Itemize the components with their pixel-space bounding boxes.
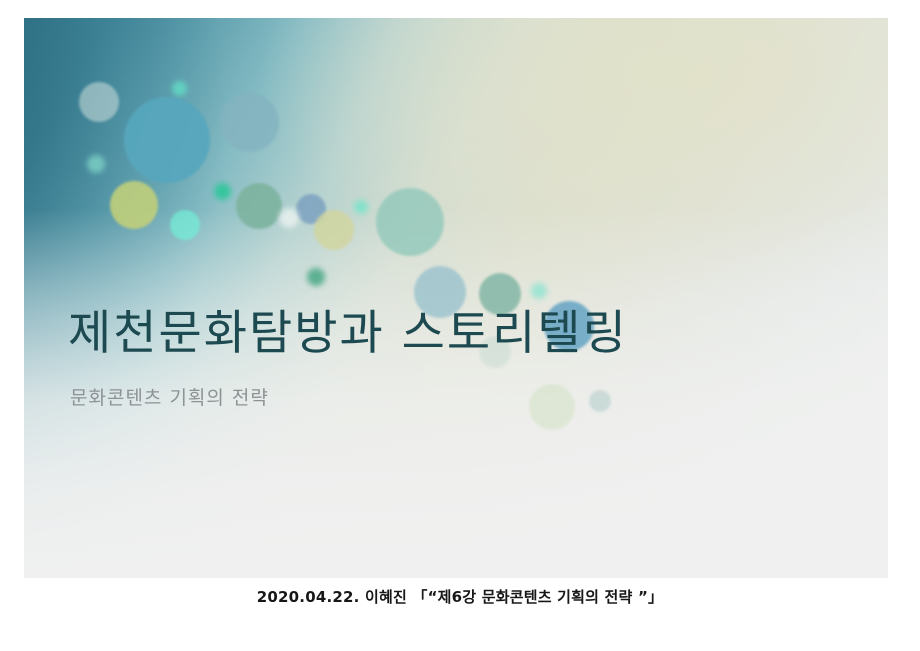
page-title: 제천문화탐방과 스토리텔링 bbox=[68, 308, 858, 361]
page-subtitle: 문화콘텐츠 기획의 전략 bbox=[70, 387, 858, 410]
slide-background-lower-wash bbox=[24, 18, 888, 578]
title-text-block: 제천문화탐방과 스토리텔링 문화콘텐츠 기획의 전략 bbox=[68, 308, 858, 409]
slide-caption: 2020.04.22. 이혜진 「“제6강 문화콘텐츠 기획의 전략 ”」 bbox=[0, 586, 920, 607]
title-slide[interactable]: 제천문화탐방과 스토리텔링 문화콘텐츠 기획의 전략 bbox=[24, 18, 888, 578]
presentation-slide-wrapper: 제천문화탐방과 스토리텔링 문화콘텐츠 기획의 전략 2020.04.22. 이… bbox=[0, 0, 920, 651]
